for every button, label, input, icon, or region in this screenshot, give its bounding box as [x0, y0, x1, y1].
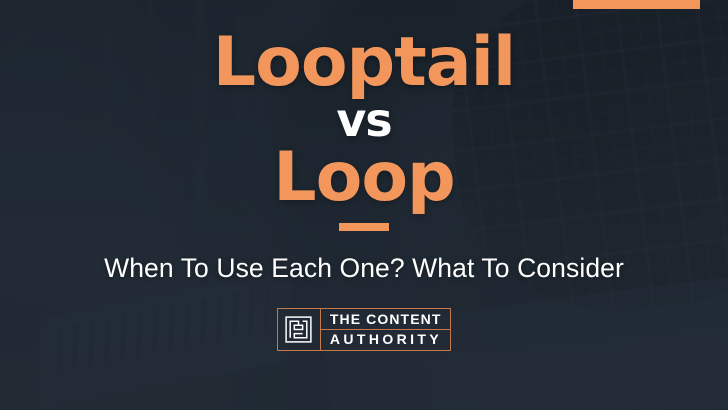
- logo-line-one: THE CONTENT: [330, 310, 442, 329]
- title-word-two: Loop: [0, 145, 728, 210]
- orange-dash: [339, 223, 389, 231]
- maze-square-icon: [278, 309, 321, 350]
- title-word-one: Looptail: [0, 30, 728, 95]
- title-block: Looptail vs Loop: [0, 0, 728, 231]
- content-authority-logo[interactable]: THE CONTENT AUTHORITY: [277, 308, 451, 351]
- logo-wordmark: THE CONTENT AUTHORITY: [321, 309, 450, 350]
- banner-content: Looptail vs Loop When To Use Each One? W…: [0, 0, 728, 410]
- title-separator: vs: [0, 97, 728, 143]
- logo-line-two: AUTHORITY: [321, 329, 450, 349]
- hero-banner: Looptail vs Loop When To Use Each One? W…: [0, 0, 728, 410]
- banner-subtitle: When To Use Each One? What To Consider: [104, 253, 624, 284]
